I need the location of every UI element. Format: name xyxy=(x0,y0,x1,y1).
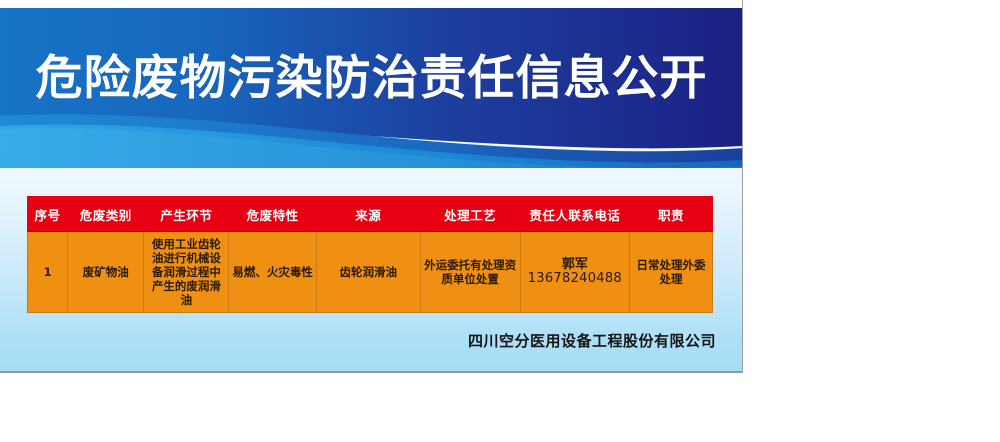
contact-person-name: 郭军 xyxy=(523,258,627,272)
cell-seq: 1 xyxy=(28,232,68,313)
cell-category: 废矿物油 xyxy=(68,232,144,313)
hazardous-waste-table: 序号 危废类别 产生环节 危废特性 来源 处理工艺 责任人联系电话 职责 1 废… xyxy=(27,196,713,313)
cell-duty: 日常处理外委处理 xyxy=(630,232,713,313)
contact-phone-number: 13678240488 xyxy=(523,272,627,286)
cell-property: 易燃、火灾毒性 xyxy=(229,232,316,313)
company-name: 四川空分医用设备工程股份有限公司 xyxy=(0,330,716,351)
table-row: 1 废矿物油 使用工业齿轮油进行机械设备润滑过程中产生的废润滑油 易燃、火灾毒性… xyxy=(28,232,713,313)
cell-contact: 郭军 13678240488 xyxy=(520,232,629,313)
column-header-stage: 产生环节 xyxy=(144,197,229,232)
cell-source: 齿轮润滑油 xyxy=(316,232,420,313)
column-header-process: 处理工艺 xyxy=(420,197,520,232)
cell-stage: 使用工业齿轮油进行机械设备润滑过程中产生的废润滑油 xyxy=(144,232,229,313)
column-header-contact: 责任人联系电话 xyxy=(520,197,629,232)
cell-process: 外运委托有处理资质单位处置 xyxy=(420,232,520,313)
page-title: 危险废物污染防治责任信息公开 xyxy=(0,50,743,108)
column-header-category: 危废类别 xyxy=(68,197,144,232)
column-header-seq: 序号 xyxy=(28,197,68,232)
information-poster: 危险废物污染防治责任信息公开 序号 危废类别 产生环节 危废特性 来源 处理工艺… xyxy=(0,0,743,373)
column-header-duty: 职责 xyxy=(630,197,713,232)
column-header-property: 危废特性 xyxy=(229,197,316,232)
column-header-source: 来源 xyxy=(316,197,420,232)
table-header-row: 序号 危废类别 产生环节 危废特性 来源 处理工艺 责任人联系电话 职责 xyxy=(28,197,713,232)
